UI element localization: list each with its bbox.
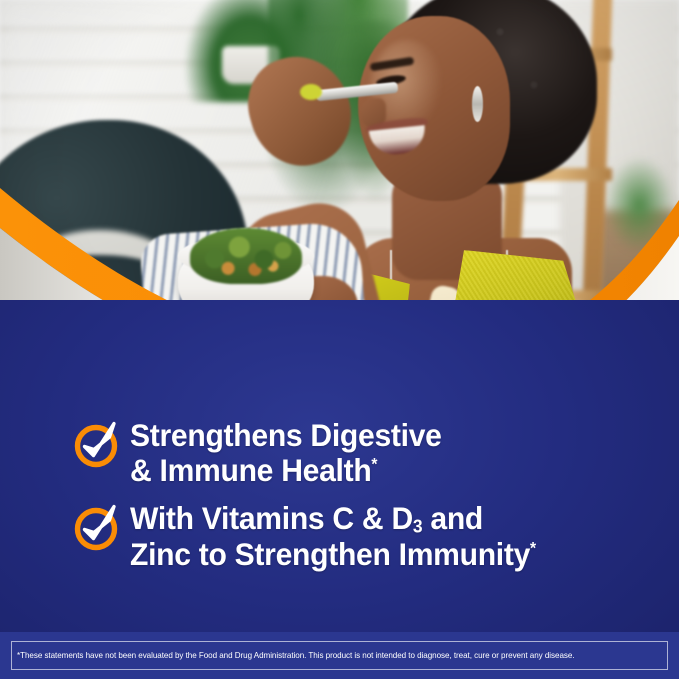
lifestyle-benefits-banner: Strengthens Digestive& Immune Health* Wi… bbox=[0, 0, 679, 679]
vitamin-d3-subscript: 3 bbox=[413, 516, 422, 537]
benefit-text: With Vitamins C & D3 andZinc to Strength… bbox=[130, 501, 536, 571]
benefit-text: Strengthens Digestive& Immune Health* bbox=[130, 418, 442, 487]
benefit-item-digestive-immune: Strengthens Digestive& Immune Health* bbox=[0, 418, 679, 487]
disclaimer-box: *These statements have not been evaluate… bbox=[11, 641, 668, 670]
footnote-marker: * bbox=[371, 455, 377, 473]
check-circle-icon bbox=[74, 424, 118, 468]
footnote-marker: * bbox=[530, 539, 536, 557]
check-circle-icon bbox=[74, 507, 118, 551]
disclaimer-footer: *These statements have not been evaluate… bbox=[0, 632, 679, 679]
benefit-item-vitamins-zinc: With Vitamins C & D3 andZinc to Strength… bbox=[0, 501, 679, 571]
benefits-list: Strengthens Digestive& Immune Health* Wi… bbox=[0, 418, 679, 585]
disclaimer-text: *These statements have not been evaluate… bbox=[17, 651, 574, 660]
